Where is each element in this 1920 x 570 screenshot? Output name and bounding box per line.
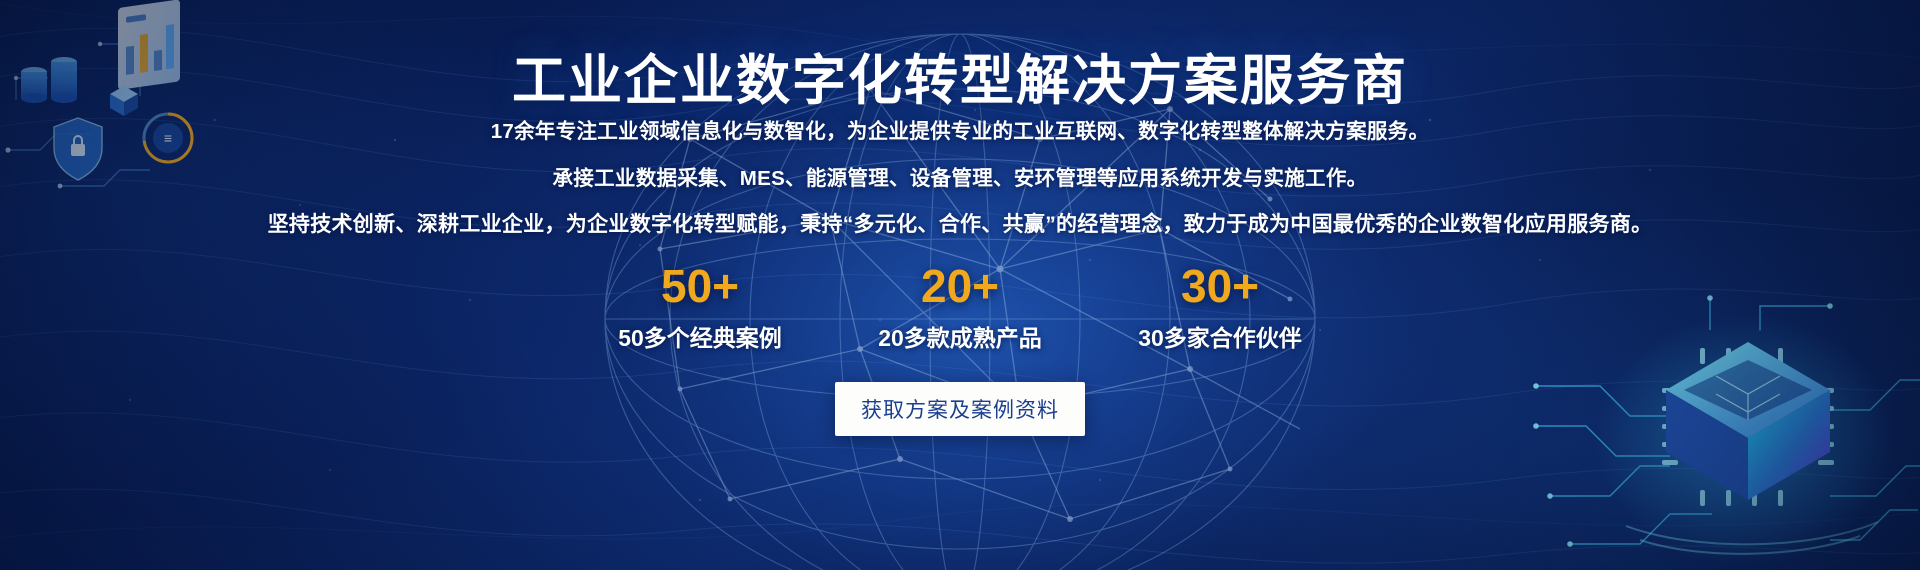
stat-label: 50多个经典案例 (570, 319, 830, 353)
hero-banner: ≡ (0, 0, 1920, 570)
stats-row: 50+ 50多个经典案例 20+ 20多款成熟产品 30+ 30多家合作伙伴 (0, 262, 1920, 353)
banner-content: 工业企业数字化转型解决方案服务商 17余年专注工业领域信息化与数智化，为企业提供… (0, 0, 1920, 570)
banner-subline-1: 17余年专注工业领域信息化与数智化，为企业提供专业的工业互联网、数字化转型整体解… (0, 114, 1920, 144)
stat-label: 30多家合作伙伴 (1090, 319, 1350, 353)
get-materials-button[interactable]: 获取方案及案例资料 (835, 382, 1085, 436)
banner-title: 工业企业数字化转型解决方案服务商 (0, 36, 1920, 115)
stat-label: 20多款成熟产品 (830, 319, 1090, 353)
stat-item-partners: 30+ 30多家合作伙伴 (1090, 262, 1350, 353)
stat-item-cases: 50+ 50多个经典案例 (570, 262, 830, 353)
banner-subline-3: 坚持技术创新、深耕工业企业，为企业数字化转型赋能，秉持“多元化、合作、共赢”的经… (0, 208, 1920, 238)
stat-value: 20+ (830, 262, 1090, 310)
stat-value: 50+ (570, 262, 830, 310)
stat-item-products: 20+ 20多款成熟产品 (830, 262, 1090, 353)
stat-value: 30+ (1090, 262, 1350, 310)
banner-subline-2: 承接工业数据采集、MES、能源管理、设备管理、安环管理等应用系统开发与实施工作。 (0, 161, 1920, 191)
